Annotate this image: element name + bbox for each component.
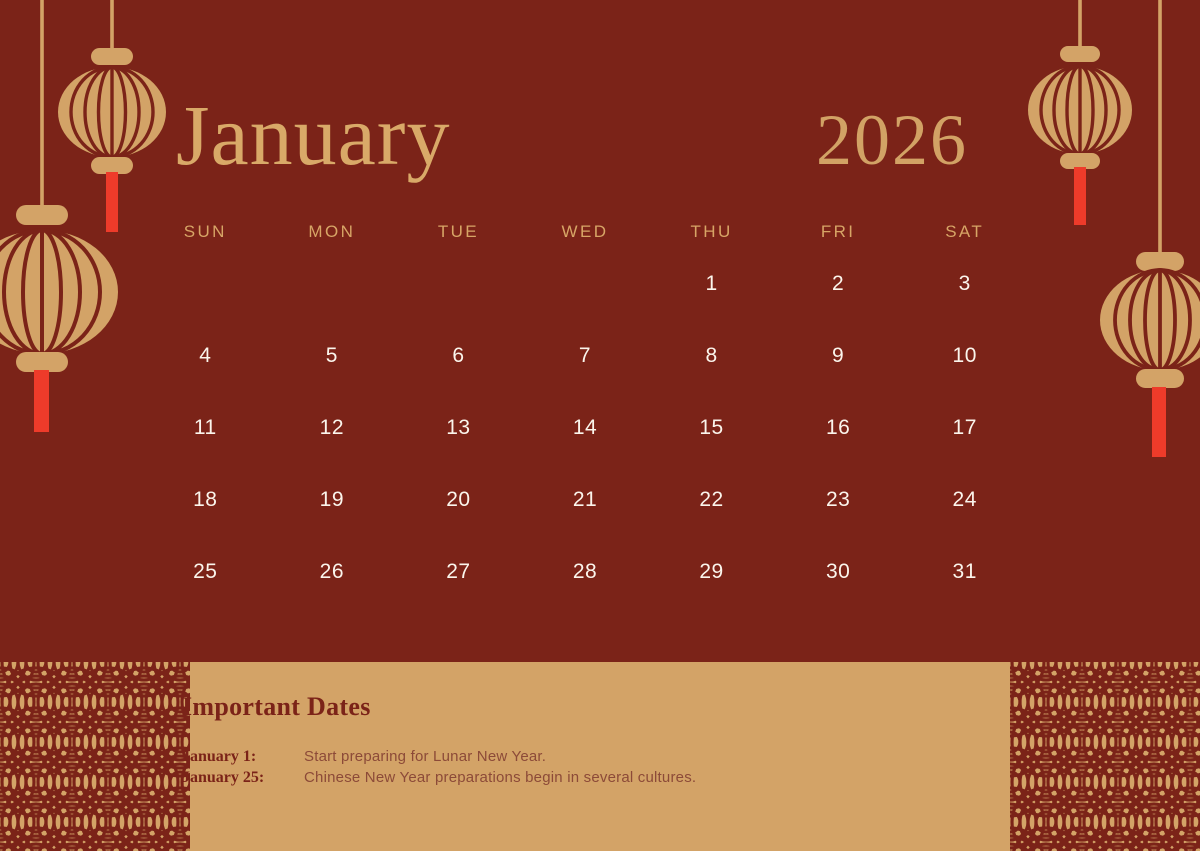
day-cell[interactable]: 19 [269,464,396,536]
day-cell [522,248,649,320]
day-cell[interactable]: 16 [775,392,902,464]
day-cell[interactable]: 20 [395,464,522,536]
day-cell[interactable]: 7 [522,320,649,392]
day-cell [142,248,269,320]
day-cell[interactable]: 24 [901,464,1028,536]
day-cell [395,248,522,320]
day-cell[interactable]: 8 [648,320,775,392]
calendar-header: January 2026 [0,0,1200,205]
day-cell[interactable]: 18 [142,464,269,536]
page-title-year: 2026 [816,104,968,176]
day-cell[interactable]: 2 [775,248,902,320]
calendar-grid: SUN MON TUE WED THU FRI SAT 1 2 3 4 5 6 … [142,222,1028,608]
day-cell[interactable]: 13 [395,392,522,464]
important-date-label: January 25: [182,767,304,788]
day-cell[interactable]: 12 [269,392,396,464]
seigaiha-pattern-left [0,662,190,851]
day-cell[interactable]: 5 [269,320,396,392]
important-dates-footer: Important Dates January 1: Start prepari… [0,662,1200,851]
important-date-description: Chinese New Year preparations begin in s… [304,767,696,788]
day-cell[interactable]: 9 [775,320,902,392]
weekday-label-sun: SUN [142,222,269,242]
day-cell[interactable]: 27 [395,536,522,608]
day-cell[interactable]: 25 [142,536,269,608]
page-title-month: January [176,92,450,178]
day-cell[interactable]: 14 [522,392,649,464]
day-cell[interactable]: 11 [142,392,269,464]
day-cell[interactable]: 6 [395,320,522,392]
day-cell[interactable]: 21 [522,464,649,536]
important-date-label: January 1: [182,746,304,767]
day-cell[interactable]: 15 [648,392,775,464]
calendar-page: January 2026 SUN MON TUE WED THU FRI SAT… [0,0,1200,851]
day-cell[interactable]: 17 [901,392,1028,464]
weekday-label-fri: FRI [775,222,902,242]
day-cell[interactable]: 28 [522,536,649,608]
day-cell[interactable]: 31 [901,536,1028,608]
day-cell[interactable]: 26 [269,536,396,608]
important-dates-content: Important Dates January 1: Start prepari… [182,692,1062,788]
day-cell[interactable]: 3 [901,248,1028,320]
weekday-header-row: SUN MON TUE WED THU FRI SAT [142,222,1028,242]
important-date-description: Start preparing for Lunar New Year. [304,746,546,767]
weekday-label-tue: TUE [395,222,522,242]
weekday-label-sat: SAT [901,222,1028,242]
day-cell[interactable]: 29 [648,536,775,608]
important-date-row: January 1: Start preparing for Lunar New… [182,746,1062,767]
weekday-label-thu: THU [648,222,775,242]
weekday-label-wed: WED [522,222,649,242]
important-dates-title: Important Dates [182,692,1062,722]
weekday-label-mon: MON [269,222,396,242]
day-cell[interactable]: 22 [648,464,775,536]
day-cell [269,248,396,320]
day-cell[interactable]: 10 [901,320,1028,392]
day-cell[interactable]: 30 [775,536,902,608]
day-cell[interactable]: 1 [648,248,775,320]
important-date-row: January 25: Chinese New Year preparation… [182,767,1062,788]
calendar-day-cells: 1 2 3 4 5 6 7 8 9 10 11 12 13 14 15 16 1… [142,248,1028,608]
day-cell[interactable]: 4 [142,320,269,392]
day-cell[interactable]: 23 [775,464,902,536]
